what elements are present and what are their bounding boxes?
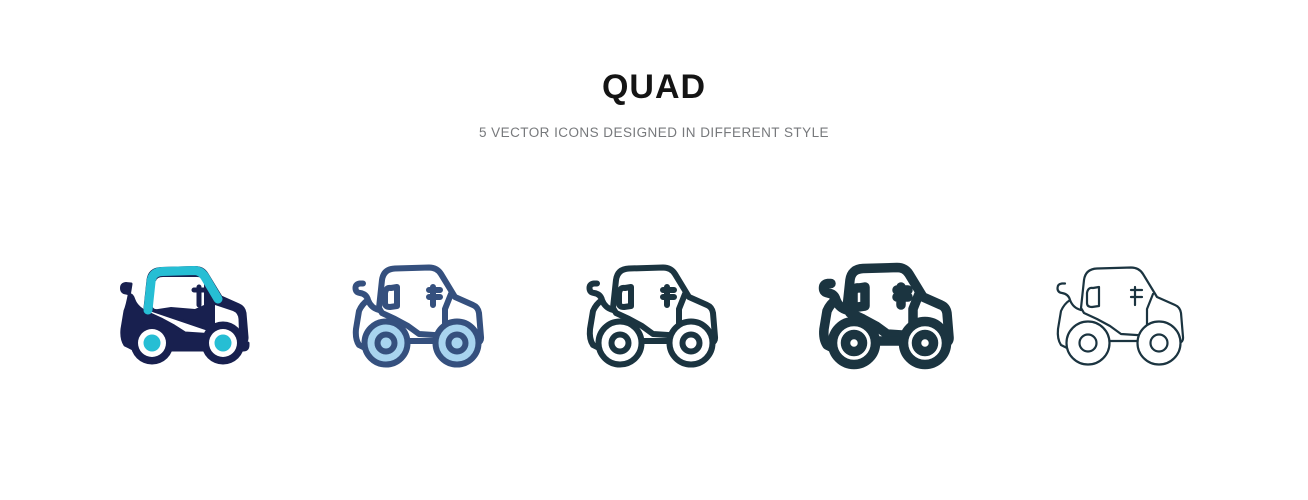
quad-wheel-front: [131, 322, 174, 365]
quad-steering-detail: [663, 287, 674, 305]
quad-steering-detail: [429, 287, 440, 305]
quad-wheel-hub: [215, 335, 232, 352]
icon-cell-2[interactable]: [537, 236, 771, 388]
quad-buggy-icon[interactable]: [345, 247, 495, 377]
page-title: QUAD: [0, 0, 1308, 104]
quad-steering-detail: [897, 287, 908, 305]
quad-wheel-rear: [904, 322, 947, 365]
quad-wheel-front: [365, 322, 408, 365]
quad-wheel-hub: [144, 335, 161, 352]
quad-buggy-icon[interactable]: [813, 247, 963, 377]
quad-wheel-front: [833, 322, 876, 365]
quad-wheel-front: [1067, 322, 1110, 365]
icon-variant-row: [0, 232, 1308, 392]
quad-wheel-hub: [378, 335, 395, 352]
icon-cell-1[interactable]: [303, 236, 537, 388]
icon-showcase-page: QUAD 5 VECTOR ICONS DESIGNED IN DIFFEREN…: [0, 0, 1308, 500]
quad-wheel-rear: [436, 322, 479, 365]
quad-wheel-rear: [670, 322, 713, 365]
quad-buggy-icon[interactable]: [111, 247, 261, 377]
page-subtitle: 5 VECTOR ICONS DESIGNED IN DIFFERENT STY…: [0, 104, 1308, 140]
page-header: QUAD 5 VECTOR ICONS DESIGNED IN DIFFEREN…: [0, 0, 1308, 140]
quad-wheel-hub: [449, 335, 466, 352]
quad-buggy-icon[interactable]: [579, 247, 729, 377]
quad-wheel-rear: [202, 322, 245, 365]
icon-cell-3[interactable]: [771, 236, 1005, 388]
icon-cell-0[interactable]: [69, 236, 303, 388]
quad-wheel-front: [599, 322, 642, 365]
quad-seat: [1087, 287, 1099, 307]
quad-seat: [853, 287, 865, 307]
quad-wheel-rear: [1138, 322, 1181, 365]
icon-cell-4[interactable]: [1005, 236, 1239, 388]
quad-seat: [385, 287, 397, 307]
quad-buggy-icon[interactable]: [1047, 247, 1197, 377]
quad-steering-detail: [1131, 287, 1142, 305]
quad-seat: [619, 287, 631, 307]
quad-cabin-cutout: [153, 277, 205, 309]
